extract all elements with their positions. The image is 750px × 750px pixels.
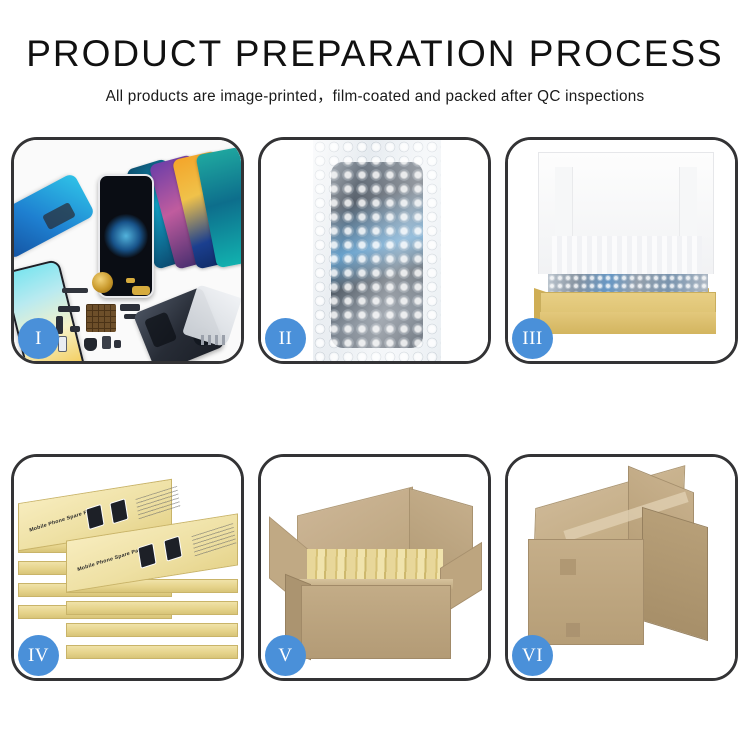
small-part-icon [114,340,121,348]
step-badge-2: II [265,318,306,359]
sim-tray-icon [58,336,67,352]
plastic-sheen-icon [313,140,441,361]
page-header: PRODUCT PREPARATION PROCESS All products… [0,0,750,106]
page-subtitle: All products are image-printed，film-coat… [0,84,750,106]
flex-cable-icon [58,306,80,312]
button-part-icon [70,326,80,332]
step-panel-2: II [258,137,491,364]
speaker-coil-icon [92,272,113,293]
step-badge-4: IV [18,635,59,676]
step-badge-3: III [512,318,553,359]
page-title: PRODUCT PREPARATION PROCESS [0,34,750,73]
carton-mark-icon [560,559,576,575]
carton-mark-icon [566,623,580,637]
bubble-wrap-bag-icon [313,140,441,361]
box-front-panel-icon [540,312,716,334]
connector-icon [132,286,150,295]
step-panel-5: V [258,454,491,681]
flex-cable-icon [120,304,140,311]
phone-lcd-assembly-icon [14,172,96,259]
step-badge-1: I [18,318,59,359]
step-panel-1: I [11,137,244,364]
step-panel-4: Mobile Phone Spare Parts Mobile Phone Sp… [11,454,244,681]
carton-side-face-icon [642,507,708,641]
stacked-box [66,645,238,659]
screws-icon [201,335,227,345]
product-preparation-page: PRODUCT PREPARATION PROCESS All products… [0,0,750,750]
connector-icon [126,278,135,283]
stacked-box [66,601,238,615]
process-steps-grid: I II [11,137,739,681]
chip-grid-icon [86,304,116,332]
speaker-icon [84,338,97,351]
step-badge-6: VI [512,635,553,676]
step-panel-6: VI [505,454,738,681]
carton-front-panel-icon [301,585,451,659]
step-panel-3: III [505,137,738,364]
carton-front-face-icon [528,539,644,645]
stacked-box [66,623,238,637]
flex-cable-icon [62,288,88,293]
step-badge-5: V [265,635,306,676]
battery-part-icon [102,336,111,349]
